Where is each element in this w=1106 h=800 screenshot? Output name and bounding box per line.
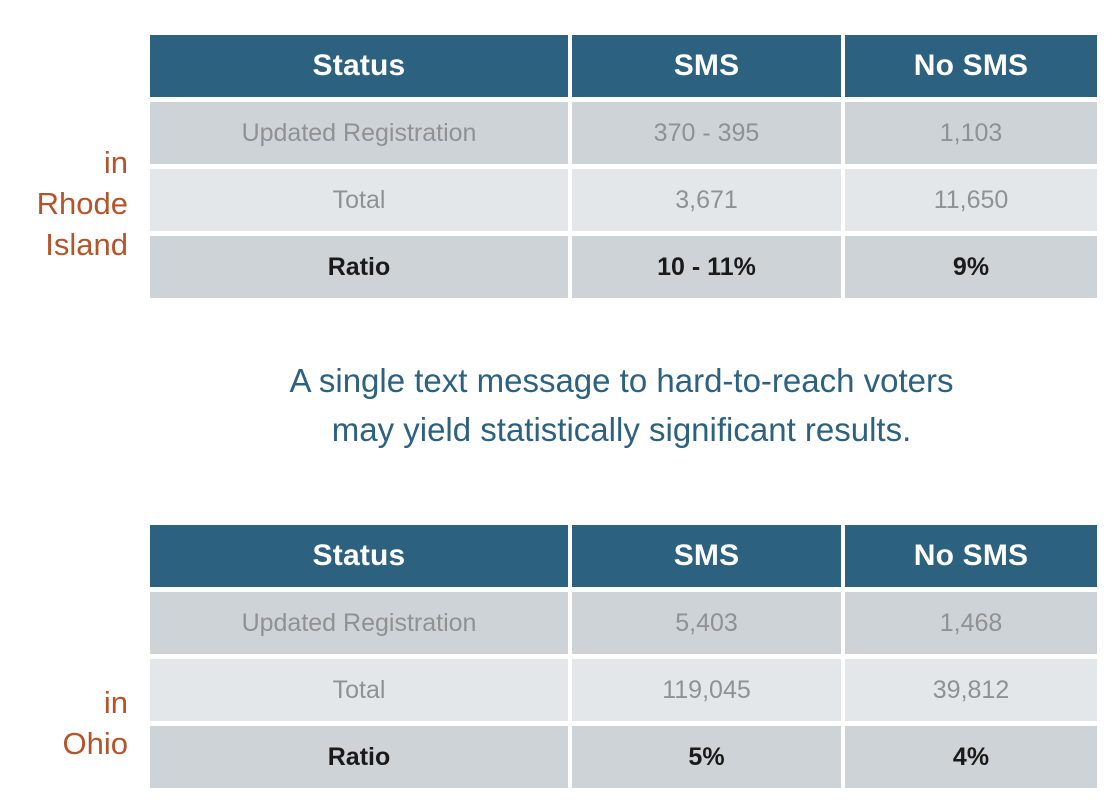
- cell-status: Total: [150, 659, 568, 721]
- column-header-no-sms: No SMS: [845, 525, 1097, 587]
- table-row: Total 119,045 39,812: [150, 659, 1097, 721]
- column-header-sms: SMS: [572, 525, 841, 587]
- cell-sms: 10 - 11%: [572, 236, 841, 298]
- table-header: Status SMS No SMS: [150, 35, 1097, 97]
- column-header-status: Status: [150, 35, 568, 97]
- column-header-no-sms: No SMS: [845, 35, 1097, 97]
- cell-sms: 119,045: [572, 659, 841, 721]
- cell-no-sms: 9%: [845, 236, 1097, 298]
- table-body: Updated Registration 5,403 1,468 Total 1…: [150, 592, 1097, 788]
- table-header-row: Status SMS No SMS: [150, 35, 1097, 97]
- table-header-row: Status SMS No SMS: [150, 525, 1097, 587]
- state-label-rhode-island: in Rhode Island: [0, 142, 128, 266]
- cell-status: Total: [150, 169, 568, 231]
- cell-sms: 370 - 395: [572, 102, 841, 164]
- table-row: Ratio 5% 4%: [150, 726, 1097, 788]
- cell-status: Updated Registration: [150, 102, 568, 164]
- state-label-ohio: in Ohio: [0, 682, 128, 764]
- cell-no-sms: 39,812: [845, 659, 1097, 721]
- caption-text: A single text message to hard-to-reach v…: [146, 357, 1097, 455]
- table-row: Updated Registration 5,403 1,468: [150, 592, 1097, 654]
- table-row: Ratio 10 - 11% 9%: [150, 236, 1097, 298]
- column-header-status: Status: [150, 525, 568, 587]
- table-body: Updated Registration 370 - 395 1,103 Tot…: [150, 102, 1097, 298]
- cell-no-sms: 11,650: [845, 169, 1097, 231]
- cell-status: Ratio: [150, 726, 568, 788]
- cell-sms: 5%: [572, 726, 841, 788]
- table-row: Total 3,671 11,650: [150, 169, 1097, 231]
- data-table: Status SMS No SMS Updated Registration 3…: [146, 30, 1101, 303]
- cell-sms: 3,671: [572, 169, 841, 231]
- cell-no-sms: 4%: [845, 726, 1097, 788]
- data-table: Status SMS No SMS Updated Registration 5…: [146, 520, 1101, 793]
- column-header-sms: SMS: [572, 35, 841, 97]
- slide-canvas: in Rhode Island Status SMS No SMS Update…: [0, 0, 1106, 800]
- cell-no-sms: 1,468: [845, 592, 1097, 654]
- cell-no-sms: 1,103: [845, 102, 1097, 164]
- cell-status: Updated Registration: [150, 592, 568, 654]
- cell-sms: 5,403: [572, 592, 841, 654]
- table-header: Status SMS No SMS: [150, 525, 1097, 587]
- table-rhode-island: Status SMS No SMS Updated Registration 3…: [146, 30, 1097, 303]
- table-ohio: Status SMS No SMS Updated Registration 5…: [146, 520, 1097, 793]
- cell-status: Ratio: [150, 236, 568, 298]
- table-row: Updated Registration 370 - 395 1,103: [150, 102, 1097, 164]
